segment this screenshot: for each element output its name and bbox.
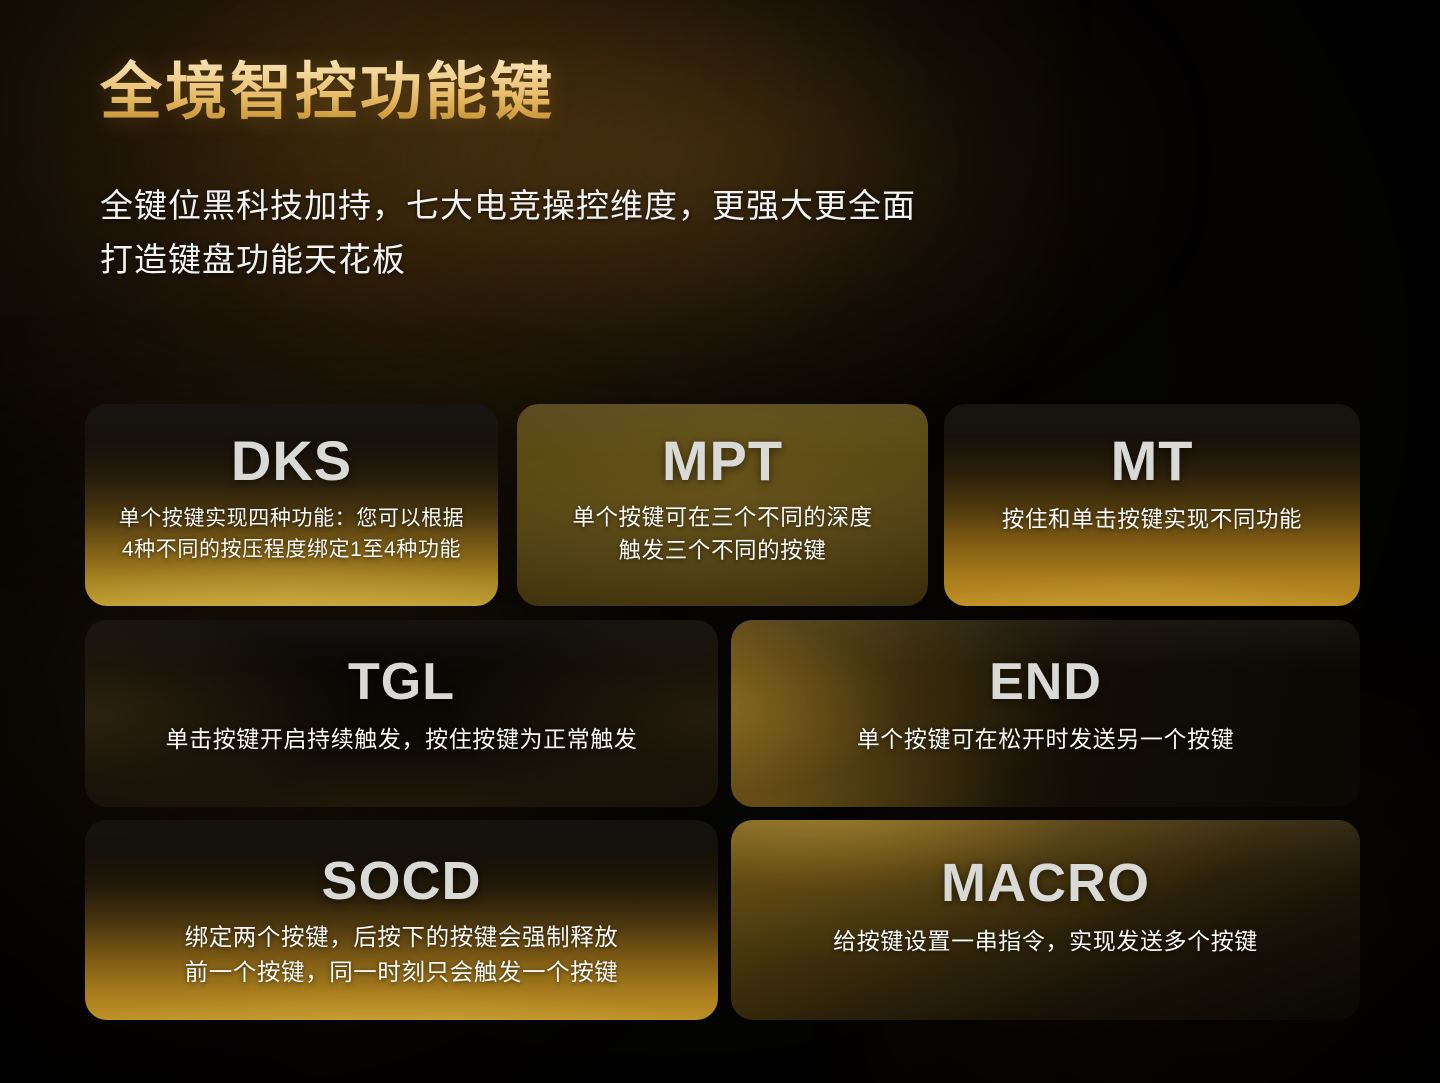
feature-card-mpt[interactable]: MPT 单个按键可在三个不同的深度 触发三个不同的按键: [517, 404, 928, 606]
card-title-tgl: TGL: [348, 652, 455, 712]
card-desc-mt: 按住和单击按键实现不同功能: [1002, 503, 1302, 536]
heading-block: 全境智控功能键 全键位黑科技加持，七大电竞操控维度，更强大更全面 打造键盘功能天…: [100, 58, 916, 286]
card-desc-line: 单个按键可在松开时发送另一个按键: [857, 722, 1235, 756]
feature-card-macro[interactable]: MACRO 给按键设置一串指令，实现发送多个按键: [731, 820, 1360, 1020]
card-desc-line: 触发三个不同的按键: [572, 534, 872, 567]
card-desc-line: 单个按键实现四种功能：您可以根据: [119, 503, 465, 534]
card-desc-line: 绑定两个按键，后按下的按键会强制释放: [185, 920, 619, 955]
card-sheen: [85, 620, 718, 807]
card-desc-mpt: 单个按键可在三个不同的深度 触发三个不同的按键: [572, 501, 872, 568]
card-desc-line: 单击按键开启持续触发，按住按键为正常触发: [166, 722, 638, 756]
card-desc-line: 给按键设置一串指令，实现发送多个按键: [833, 924, 1258, 958]
card-title-dks: DKS: [231, 428, 352, 493]
card-title-mpt: MPT: [662, 428, 783, 493]
card-desc-socd: 绑定两个按键，后按下的按键会强制释放 前一个按键，同一时刻只会触发一个按键: [185, 920, 619, 990]
card-title-macro: MACRO: [941, 852, 1150, 914]
card-sheen: [731, 820, 1360, 1020]
card-desc-end: 单个按键可在松开时发送另一个按键: [857, 722, 1235, 756]
card-title-socd: SOCD: [321, 850, 481, 912]
subtitle-line: 打造键盘功能天花板: [100, 233, 916, 286]
feature-card-dks[interactable]: DKS 单个按键实现四种功能：您可以根据 4种不同的按压程度绑定1至4种功能: [85, 404, 498, 606]
card-desc-line: 前一个按键，同一时刻只会触发一个按键: [185, 955, 619, 990]
card-sheen: [731, 620, 1360, 807]
card-desc-line: 单个按键可在三个不同的深度: [572, 501, 872, 534]
card-desc-macro: 给按键设置一串指令，实现发送多个按键: [833, 924, 1258, 958]
card-title-mt: MT: [1111, 428, 1194, 493]
page-subtitle: 全键位黑科技加持，七大电竞操控维度，更强大更全面 打造键盘功能天花板: [100, 179, 916, 286]
card-desc-line: 按住和单击按键实现不同功能: [1002, 503, 1302, 536]
promo-slide: 全境智控功能键 全键位黑科技加持，七大电竞操控维度，更强大更全面 打造键盘功能天…: [0, 0, 1440, 1083]
feature-card-end[interactable]: END 单个按键可在松开时发送另一个按键: [731, 620, 1360, 807]
card-desc-tgl: 单击按键开启持续触发，按住按键为正常触发: [166, 722, 638, 756]
card-desc-line: 4种不同的按压程度绑定1至4种功能: [119, 534, 465, 565]
page-title: 全境智控功能键: [100, 58, 916, 127]
card-title-end: END: [989, 652, 1102, 712]
feature-card-mt[interactable]: MT 按住和单击按键实现不同功能: [944, 404, 1360, 606]
feature-card-tgl[interactable]: TGL 单击按键开启持续触发，按住按键为正常触发: [85, 620, 718, 807]
subtitle-line: 全键位黑科技加持，七大电竞操控维度，更强大更全面: [100, 179, 916, 232]
feature-card-socd[interactable]: SOCD 绑定两个按键，后按下的按键会强制释放 前一个按键，同一时刻只会触发一个…: [85, 820, 718, 1020]
card-desc-dks: 单个按键实现四种功能：您可以根据 4种不同的按压程度绑定1至4种功能: [119, 503, 465, 565]
